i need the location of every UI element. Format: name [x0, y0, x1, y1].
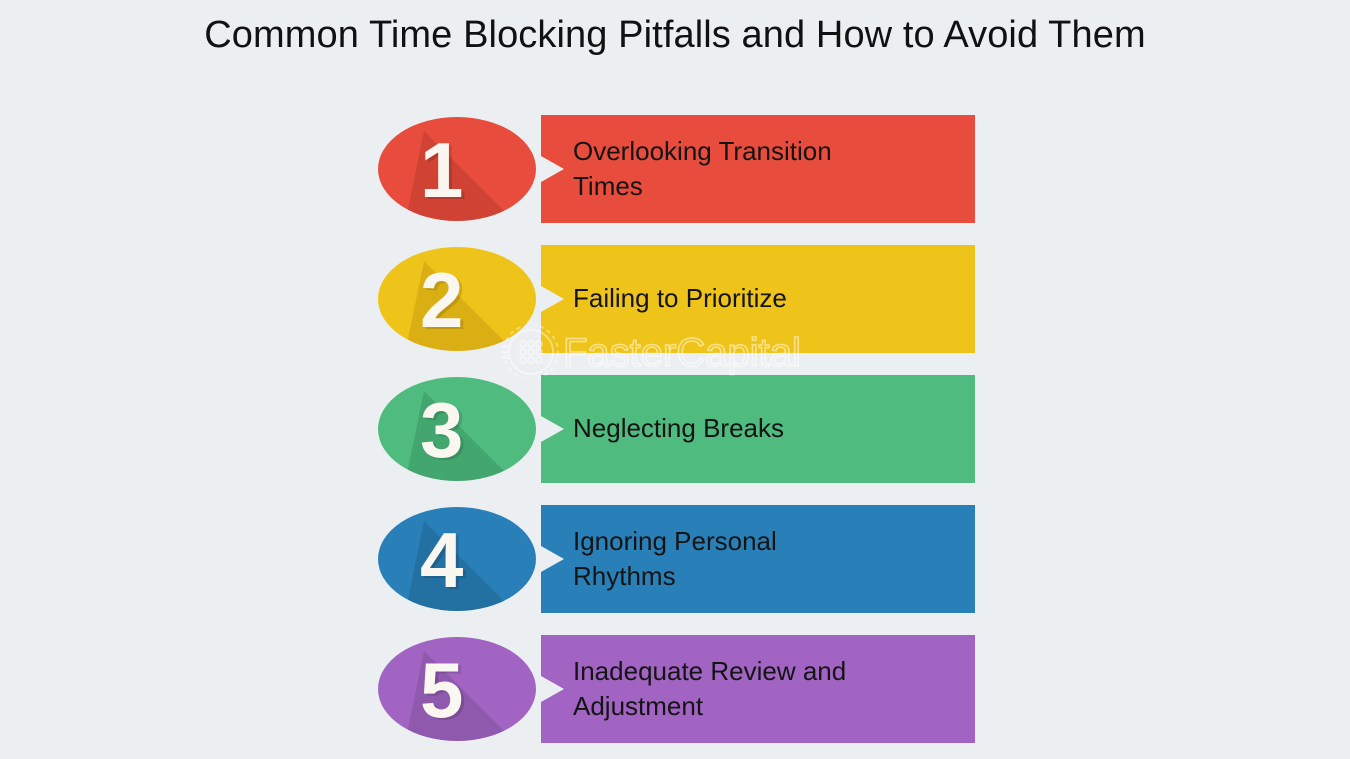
pitfall-number-badge[interactable]: 22 — [378, 247, 536, 351]
pitfall-row: 44Ignoring Personal Rhythms — [0, 494, 1350, 624]
pitfall-bar[interactable]: Inadequate Review and Adjustment — [541, 635, 975, 743]
pitfall-row: 11Overlooking Transition Times — [0, 104, 1350, 234]
pitfall-number-badge[interactable]: 44 — [378, 507, 536, 611]
pitfall-row: 33Neglecting Breaks — [0, 364, 1350, 494]
pitfall-row: 55Inadequate Review and Adjustment — [0, 624, 1350, 754]
page-title: Common Time Blocking Pitfalls and How to… — [0, 14, 1350, 57]
badge-number: 4 — [420, 516, 463, 604]
pitfall-number-badge[interactable]: 33 — [378, 377, 536, 481]
badge-number: 3 — [420, 386, 463, 474]
badge-number: 1 — [420, 126, 463, 214]
badge-number: 5 — [420, 646, 463, 734]
pitfall-row: 22Failing to Prioritize — [0, 234, 1350, 364]
pitfall-label: Ignoring Personal Rhythms — [541, 524, 791, 594]
pitfall-bar[interactable]: Overlooking Transition Times — [541, 115, 975, 223]
badge-number: 2 — [420, 256, 463, 344]
pitfall-bar[interactable]: Ignoring Personal Rhythms — [541, 505, 975, 613]
pitfall-number-badge[interactable]: 11 — [378, 117, 536, 221]
pitfall-label: Overlooking Transition Times — [541, 134, 846, 204]
pitfall-label: Failing to Prioritize — [541, 281, 801, 316]
pitfall-label: Neglecting Breaks — [541, 411, 798, 446]
pitfall-label: Inadequate Review and Adjustment — [541, 654, 860, 724]
pitfall-number-badge[interactable]: 55 — [378, 637, 536, 741]
pitfall-bar[interactable]: Neglecting Breaks — [541, 375, 975, 483]
pitfall-bar[interactable]: Failing to Prioritize — [541, 245, 975, 353]
pitfalls-list: 11Overlooking Transition Times22Failing … — [0, 104, 1350, 754]
